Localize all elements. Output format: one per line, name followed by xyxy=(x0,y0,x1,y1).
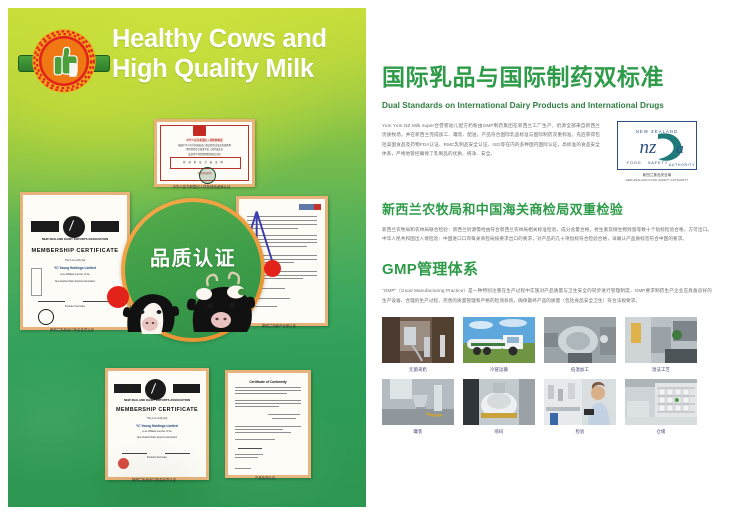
photo-filling xyxy=(382,379,454,425)
svg-text:NEW ZEALAND: NEW ZEALAND xyxy=(636,129,678,134)
certificate-heading: MEMBERSHIP CERTIFICATE xyxy=(108,407,206,413)
certificate-caption-china: 中华人民共和国出入境检验检疫局认证 xyxy=(154,184,249,189)
certificate-china-inspection: 中华人民共和国出入境检验检疫 依据中华人民共和国进出口商品检验法及其实施条例 经… xyxy=(154,119,255,187)
photo-milking xyxy=(382,317,454,363)
certificate-heading: Certificate of Conformity xyxy=(228,380,308,384)
certificate-sheet: Certificate of Conformity xyxy=(228,373,308,475)
photo-processing-image xyxy=(544,317,616,363)
cow-left-illustration xyxy=(120,280,182,336)
photo-caption: 无菌采奶 xyxy=(382,367,454,373)
red-dot-decoration-1 xyxy=(107,286,129,308)
photo-wet-process xyxy=(625,317,697,363)
photo-row: 无菌采奶 xyxy=(382,317,718,373)
nzfsa-logo-icon: NEW ZEALAND nz a FOOD SAFETY AUTHORITY xyxy=(618,122,696,169)
cow-right-illustration xyxy=(184,270,258,336)
photo-cell: 冷链运输 xyxy=(463,317,535,373)
brochure-page: Healthy Cows and High Quality Milk 中华人民共… xyxy=(0,0,730,517)
svg-text:AUTHORITY: AUTHORITY xyxy=(669,163,695,167)
photo-cell: 湿法工艺 xyxy=(625,317,697,373)
right-content-panel: 国际乳品与国际制药双标准 Dual Standards on Internati… xyxy=(382,8,722,507)
certificate-sheet: 中华人民共和国出入境检验检疫 依据中华人民共和国进出口商品检验法及其实施条例 经… xyxy=(157,122,252,184)
certificate-nz-membership-1: NEW ZEALAND DAIRY EXPORTS ASSOCIATION ME… xyxy=(20,192,130,330)
certificate-sheet: NEW ZEALAND DAIRY EXPORTS ASSOCIATION ME… xyxy=(23,195,127,327)
photo-wet-process-image xyxy=(625,317,697,363)
circle-label: 品质认证 xyxy=(125,242,261,271)
photo-canning xyxy=(463,379,535,425)
photo-testing xyxy=(544,379,616,425)
nzfsa-caption-en: NEW ZEALAND FOOD SAFETY AUTHORITY xyxy=(609,178,705,182)
svg-text:FOOD: FOOD xyxy=(627,160,642,165)
photo-warehouse xyxy=(625,379,697,425)
thumbs-up-sunburst-icon xyxy=(31,28,97,94)
photo-caption: 喷码 xyxy=(463,429,535,435)
photo-cell: 仓储 xyxy=(625,379,697,435)
certificate-sheet: NEW ZEALAND DAIRY EXPORTS ASSOCIATION ME… xyxy=(108,371,206,477)
photo-testing-image xyxy=(544,379,616,425)
photo-caption: 检验 xyxy=(544,429,616,435)
photo-warehouse-image xyxy=(625,379,697,425)
red-dot-decoration-2 xyxy=(264,260,281,277)
certificate-nz-membership-2: NEW ZEALAND DAIRY EXPORTS ASSOCIATION ME… xyxy=(105,368,209,480)
intro-paragraph: Yum Yum NZ Milk super合营婴幼儿配方奶粉由GMP制药集团在新… xyxy=(382,121,600,159)
photo-cell: 低温加工 xyxy=(544,317,616,373)
intro-row: Yum Yum NZ Milk super合营婴幼儿配方奶粉由GMP制药集团在新… xyxy=(382,121,722,182)
photo-processing xyxy=(544,317,616,363)
photo-transport-image xyxy=(463,317,535,363)
photo-caption: 仓储 xyxy=(625,429,697,435)
left-green-panel: Healthy Cows and High Quality Milk 中华人民共… xyxy=(8,8,366,507)
section-heading-main: 国际乳品与国际制药双标准 xyxy=(382,58,722,92)
photo-filling-image xyxy=(382,379,454,425)
photo-cell: 罐装 xyxy=(382,379,454,435)
certificate-caption-nz-2: 新西兰乳品出口协会会员认证 xyxy=(105,477,203,482)
page-title: Healthy Cows and High Quality Milk xyxy=(112,25,362,84)
photo-cell: 无菌采奶 xyxy=(382,317,454,373)
photo-grid: 无菌采奶 xyxy=(382,317,718,435)
nzfsa-logo-block: NEW ZEALAND nz a FOOD SAFETY AUTHORITY 新… xyxy=(609,121,705,182)
photo-cell: 检验 xyxy=(544,379,616,435)
section-heading-dual-inspection: 新西兰农牧局和中国海关商检局双重检验 xyxy=(382,199,722,218)
photo-milking-image xyxy=(382,317,454,363)
photo-caption: 冷链运输 xyxy=(463,367,535,373)
svg-text:nz: nz xyxy=(640,137,658,158)
page-title-line2: High Quality Milk xyxy=(112,55,362,85)
photo-cell: 喷码 xyxy=(463,379,535,435)
thumbs-up-badge xyxy=(21,24,105,102)
certificate-caption-nz-1: 新西兰乳品出口协会会员认证 xyxy=(20,327,124,332)
certificate-conformity: Certificate of Conformity xyxy=(225,370,311,478)
photo-caption: 低温加工 xyxy=(544,367,616,373)
certificate-heading: MEMBERSHIP CERTIFICATE xyxy=(23,248,127,254)
section-text-dual-inspection: 新西兰农牧局和农林局联合检验：新西兰奶源需经由符合新西兰农林局相关标准检验，成分… xyxy=(382,225,712,243)
page-title-line1: Healthy Cows and xyxy=(112,25,362,55)
svg-text:SAFETY: SAFETY xyxy=(648,160,668,165)
photo-caption: 罐装 xyxy=(382,429,454,435)
certificate-caption-conformity: 产品检测认证 xyxy=(225,475,305,480)
photo-caption: 湿法工艺 xyxy=(625,367,697,373)
photo-canning-image xyxy=(463,379,535,425)
section-subheading-english: Dual Standards on International Dairy Pr… xyxy=(382,101,722,110)
section-heading-gmp: GMP管理体系 xyxy=(382,258,722,279)
nzfsa-logo: NEW ZEALAND nz a FOOD SAFETY AUTHORITY xyxy=(617,121,697,170)
section-text-gmp: "GMP"（Good Manufacturing Practice）是一种特别注… xyxy=(382,286,712,304)
photo-transport xyxy=(463,317,535,363)
svg-text:a: a xyxy=(676,141,684,157)
photo-row: 罐装 喷码 xyxy=(382,379,718,435)
